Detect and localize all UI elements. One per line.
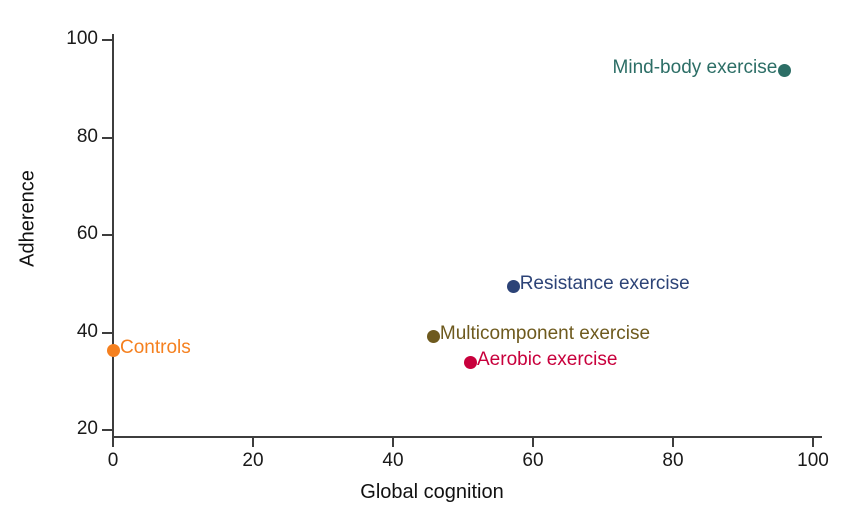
- x-axis-line: [112, 436, 822, 438]
- x-axis-tick-label: 80: [662, 450, 683, 472]
- data-point-label: Resistance exercise: [520, 273, 690, 295]
- data-point-label: Mind-body exercise: [613, 57, 778, 79]
- y-axis-tick: [102, 429, 113, 431]
- y-axis-tick-label: 80: [30, 126, 98, 148]
- y-axis-tick: [102, 234, 113, 236]
- data-point-marker[interactable]: [507, 280, 520, 293]
- data-point-marker[interactable]: [107, 344, 120, 357]
- data-point-marker[interactable]: [778, 64, 791, 77]
- data-point-label: Aerobic exercise: [477, 349, 617, 371]
- scatter-plot-figure: 20406080100 020406080100 ControlsMultico…: [0, 0, 864, 519]
- x-axis-tick-label: 40: [382, 450, 403, 472]
- x-axis-tick: [112, 437, 114, 447]
- y-axis-tick: [102, 39, 113, 41]
- x-axis-tick-label: 60: [522, 450, 543, 472]
- data-point-label: Controls: [120, 337, 191, 359]
- y-axis-tick-label: 60: [30, 223, 98, 245]
- x-axis-tick-label: 100: [797, 450, 829, 472]
- data-point-marker[interactable]: [427, 330, 440, 343]
- y-axis-tick-label: 100: [30, 28, 98, 50]
- x-axis-tick-label: 0: [108, 450, 119, 472]
- y-axis-tick-label: 20: [30, 418, 98, 440]
- x-axis-title: Global cognition: [0, 481, 864, 504]
- x-axis-tick: [252, 437, 254, 447]
- y-axis-tick: [102, 137, 113, 139]
- x-axis-tick: [532, 437, 534, 447]
- x-axis-tick: [672, 437, 674, 447]
- y-axis-line: [112, 34, 114, 438]
- y-axis-tick: [102, 332, 113, 334]
- data-point-marker[interactable]: [464, 356, 477, 369]
- y-axis-tick-label: 40: [30, 321, 98, 343]
- x-axis-tick: [392, 437, 394, 447]
- y-axis-title: Adherence: [17, 129, 40, 309]
- x-axis-tick: [812, 437, 814, 447]
- x-axis-tick-label: 20: [242, 450, 263, 472]
- data-point-label: Multicomponent exercise: [440, 323, 650, 345]
